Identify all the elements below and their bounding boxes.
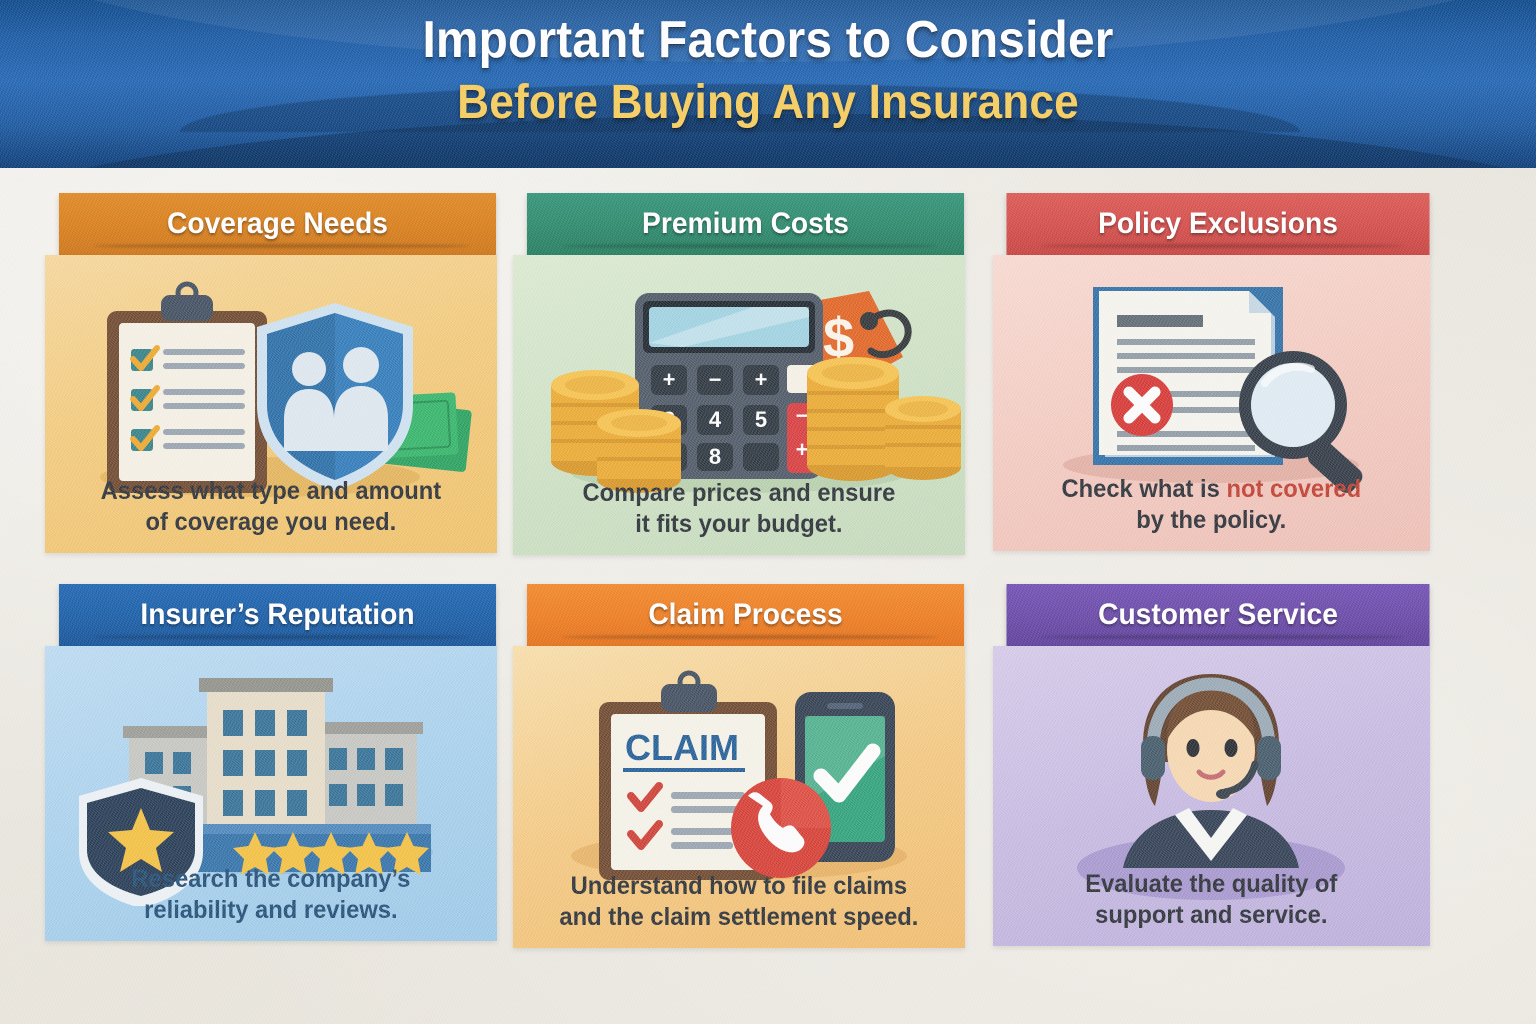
card-title-policy-exclusions: Policy Exclusions: [1098, 207, 1338, 241]
page-header-banner: Important Factors to Consider Before Buy…: [0, 0, 1536, 168]
caption-line-1: Evaluate the quality of: [1085, 870, 1337, 898]
card-policy-exclusions[interactable]: Policy Exclusions: [993, 193, 1443, 551]
card-customer-service[interactable]: Customer Service: [993, 584, 1443, 946]
card-title-customer-service: Customer Service: [1098, 598, 1338, 632]
card-body-customer-service: Evaluate the quality of support and serv…: [993, 646, 1430, 946]
card-caption-coverage-needs: Assess what type and amount of coverage …: [82, 476, 460, 537]
card-header-policy-exclusions: Policy Exclusions: [1007, 193, 1430, 255]
svg-text:+: +: [796, 437, 809, 462]
header-fold-shadow: [1040, 244, 1404, 248]
caption-line-1: Understand how to file claims: [571, 872, 908, 900]
caption-line-1: Assess what type and amount: [101, 477, 442, 505]
card-body-insurers-reputation: Research the company’s reliability and r…: [45, 646, 497, 941]
factors-grid: Coverage Needs: [45, 193, 1494, 963]
caption-line-2: reliability and reviews.: [144, 896, 397, 924]
card-coverage-needs[interactable]: Coverage Needs: [45, 193, 510, 553]
svg-text:8: 8: [709, 444, 721, 469]
card-body-policy-exclusions: Check what is not covered by the policy.: [993, 255, 1430, 551]
clipboard-checklist-icon: [107, 284, 267, 493]
header-fold-shadow: [562, 244, 938, 248]
page-subtitle: Before Buying Any Insurance: [61, 79, 1474, 128]
card-claim-process[interactable]: Claim Process: [513, 584, 978, 954]
page-title: Important Factors to Consider: [61, 14, 1474, 67]
header-fold-shadow: [1040, 635, 1404, 639]
caption-line-2: it fits your budget.: [635, 510, 842, 538]
card-title-premium-costs: Premium Costs: [642, 207, 849, 241]
caption-line-2: and the claim settlement speed.: [559, 903, 918, 931]
svg-text:−: −: [796, 403, 809, 428]
card-title-coverage-needs: Coverage Needs: [167, 207, 388, 241]
card-header-customer-service: Customer Service: [1007, 584, 1430, 646]
phone-call-icon: [731, 778, 831, 878]
card-art-claim-process: CLAIM: [513, 656, 965, 906]
red-x-icon: [1111, 374, 1173, 436]
card-title-claim-process: Claim Process: [648, 598, 842, 632]
caption-line-1-prefix: Check what is: [1062, 475, 1227, 503]
card-caption-policy-exclusions: Check what is not covered by the policy.: [1029, 474, 1394, 535]
svg-text:−: −: [709, 367, 722, 392]
card-body-premium-costs: $: [513, 255, 965, 555]
header-fold-shadow: [94, 244, 470, 248]
svg-text:+: +: [755, 367, 768, 392]
card-header-coverage-needs: Coverage Needs: [59, 193, 496, 255]
clipboard-claim-label: CLAIM: [625, 727, 739, 768]
card-caption-insurers-reputation: Research the company’s reliability and r…: [82, 864, 460, 925]
caption-highlight: not covered: [1227, 475, 1362, 503]
headset-agent-icon: [1123, 674, 1299, 868]
svg-text:5: 5: [755, 407, 767, 432]
card-header-claim-process: Claim Process: [527, 584, 964, 646]
svg-text:+: +: [663, 367, 676, 392]
header-fold-shadow: [562, 635, 938, 639]
card-title-insurers-reputation: Insurer’s Reputation: [140, 598, 414, 632]
card-caption-claim-process: Understand how to file claims and the cl…: [550, 871, 928, 932]
card-header-insurers-reputation: Insurer’s Reputation: [59, 584, 496, 646]
card-premium-costs[interactable]: Premium Costs $: [513, 193, 978, 555]
caption-line-1: Compare prices and ensure: [583, 479, 896, 507]
svg-text:4: 4: [709, 407, 722, 432]
caption-line-2: of coverage you need.: [146, 508, 397, 536]
caption-line-2: support and service.: [1095, 901, 1327, 929]
card-body-claim-process: CLAIM: [513, 646, 965, 948]
caption-line-2: by the policy.: [1136, 506, 1286, 534]
card-insurers-reputation[interactable]: Insurer’s Reputation: [45, 584, 510, 946]
card-header-premium-costs: Premium Costs: [527, 193, 964, 255]
header-fold-shadow: [94, 635, 470, 639]
card-caption-premium-costs: Compare prices and ensure it fits your b…: [550, 478, 928, 539]
card-body-coverage-needs: $: [45, 255, 497, 553]
caption-line-1: Research the company’s: [132, 865, 411, 893]
card-caption-customer-service: Evaluate the quality of support and serv…: [1029, 869, 1394, 930]
